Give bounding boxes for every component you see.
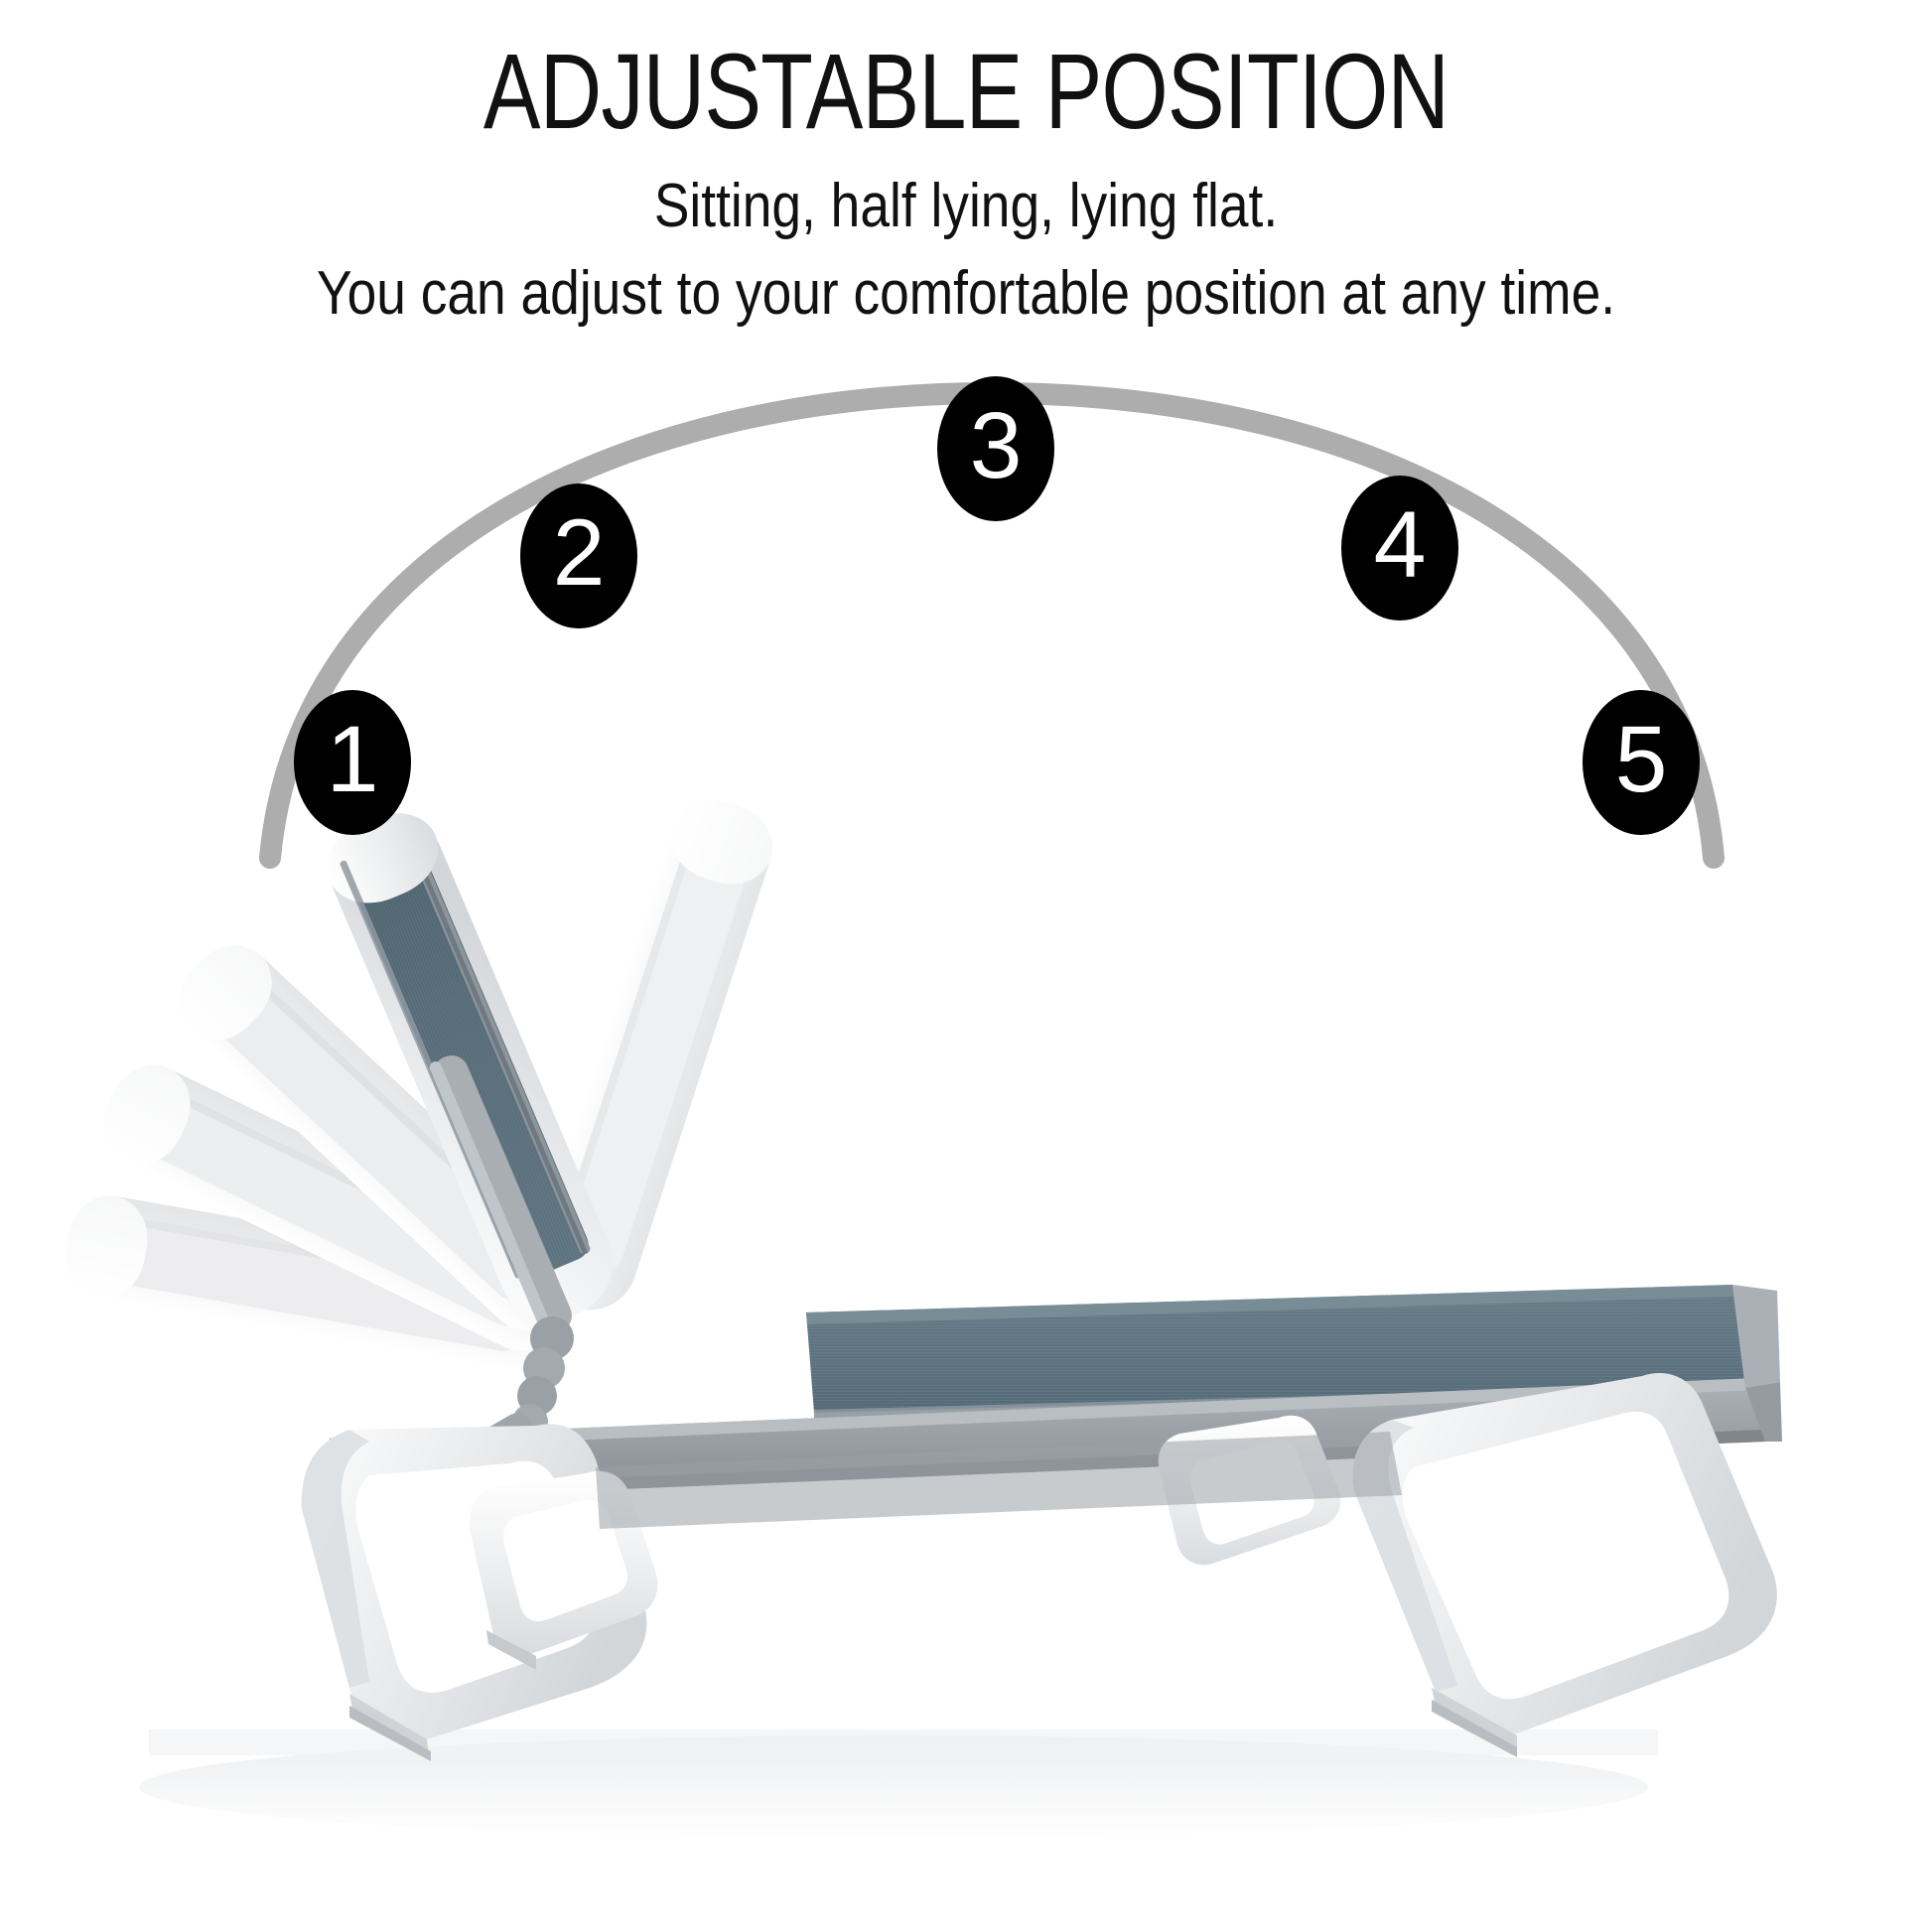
- badge-number: 2: [553, 506, 606, 601]
- position-5-sitting[interactable]: 5: [1583, 690, 1700, 835]
- front-leg-frame: [1353, 1373, 1777, 1757]
- infographic-canvas: ADJUSTABLE POSITION Sitting, half lying,…: [0, 0, 1932, 1932]
- badge-number: 4: [1374, 498, 1427, 593]
- position-3-half-lying[interactable]: 3: [937, 376, 1054, 521]
- product-illustration: [0, 0, 1932, 1932]
- badge-number: 5: [1615, 713, 1668, 807]
- badge-number: 3: [970, 399, 1023, 493]
- position-2[interactable]: 2: [520, 483, 637, 628]
- badge-number: 1: [327, 713, 379, 807]
- position-4[interactable]: 4: [1341, 476, 1458, 621]
- floor-shadow: [139, 1729, 1658, 1839]
- position-1-flat[interactable]: 1: [294, 690, 411, 835]
